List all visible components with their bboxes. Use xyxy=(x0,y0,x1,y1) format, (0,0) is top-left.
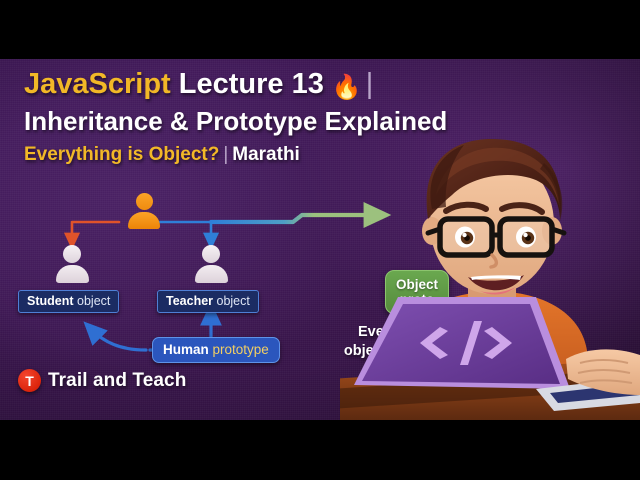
letterbox-top xyxy=(0,0,640,59)
language-label: Marathi xyxy=(232,144,300,165)
character-illustration xyxy=(340,59,640,420)
human-person-icon xyxy=(127,193,161,229)
student-box-bold: Student xyxy=(27,294,74,308)
logo-text: Trail and Teach xyxy=(48,370,186,392)
human-box-bold: Human xyxy=(163,342,209,357)
channel-logo: T Trail and Teach xyxy=(18,369,186,392)
brand-javascript: JavaScript xyxy=(24,68,171,100)
teacher-person-icon xyxy=(194,245,228,283)
thumbnail-canvas: JavaScript Lecture 13 🔥| Inheritance & P… xyxy=(0,59,640,420)
student-person-icon xyxy=(55,245,89,283)
logo-mark-icon: T xyxy=(18,369,41,392)
lecture-label: Lecture 13 xyxy=(179,68,324,100)
human-box-sub: prototype xyxy=(213,342,269,357)
student-object-box: Student object xyxy=(18,290,119,313)
character-artwork xyxy=(340,59,640,420)
human-prototype-box: Human prototype xyxy=(152,337,280,363)
teacher-object-box: Teacher object xyxy=(157,290,259,313)
teacher-box-sub: object xyxy=(217,294,250,308)
thumbnail-stage: JavaScript Lecture 13 🔥| Inheritance & P… xyxy=(0,0,640,480)
student-box-sub: object xyxy=(77,294,110,308)
teacher-box-bold: Teacher xyxy=(166,294,213,308)
subtitle-question: Everything is Object? xyxy=(24,144,219,165)
letterbox-bottom xyxy=(0,420,640,480)
title-divider-2: | xyxy=(219,144,232,165)
